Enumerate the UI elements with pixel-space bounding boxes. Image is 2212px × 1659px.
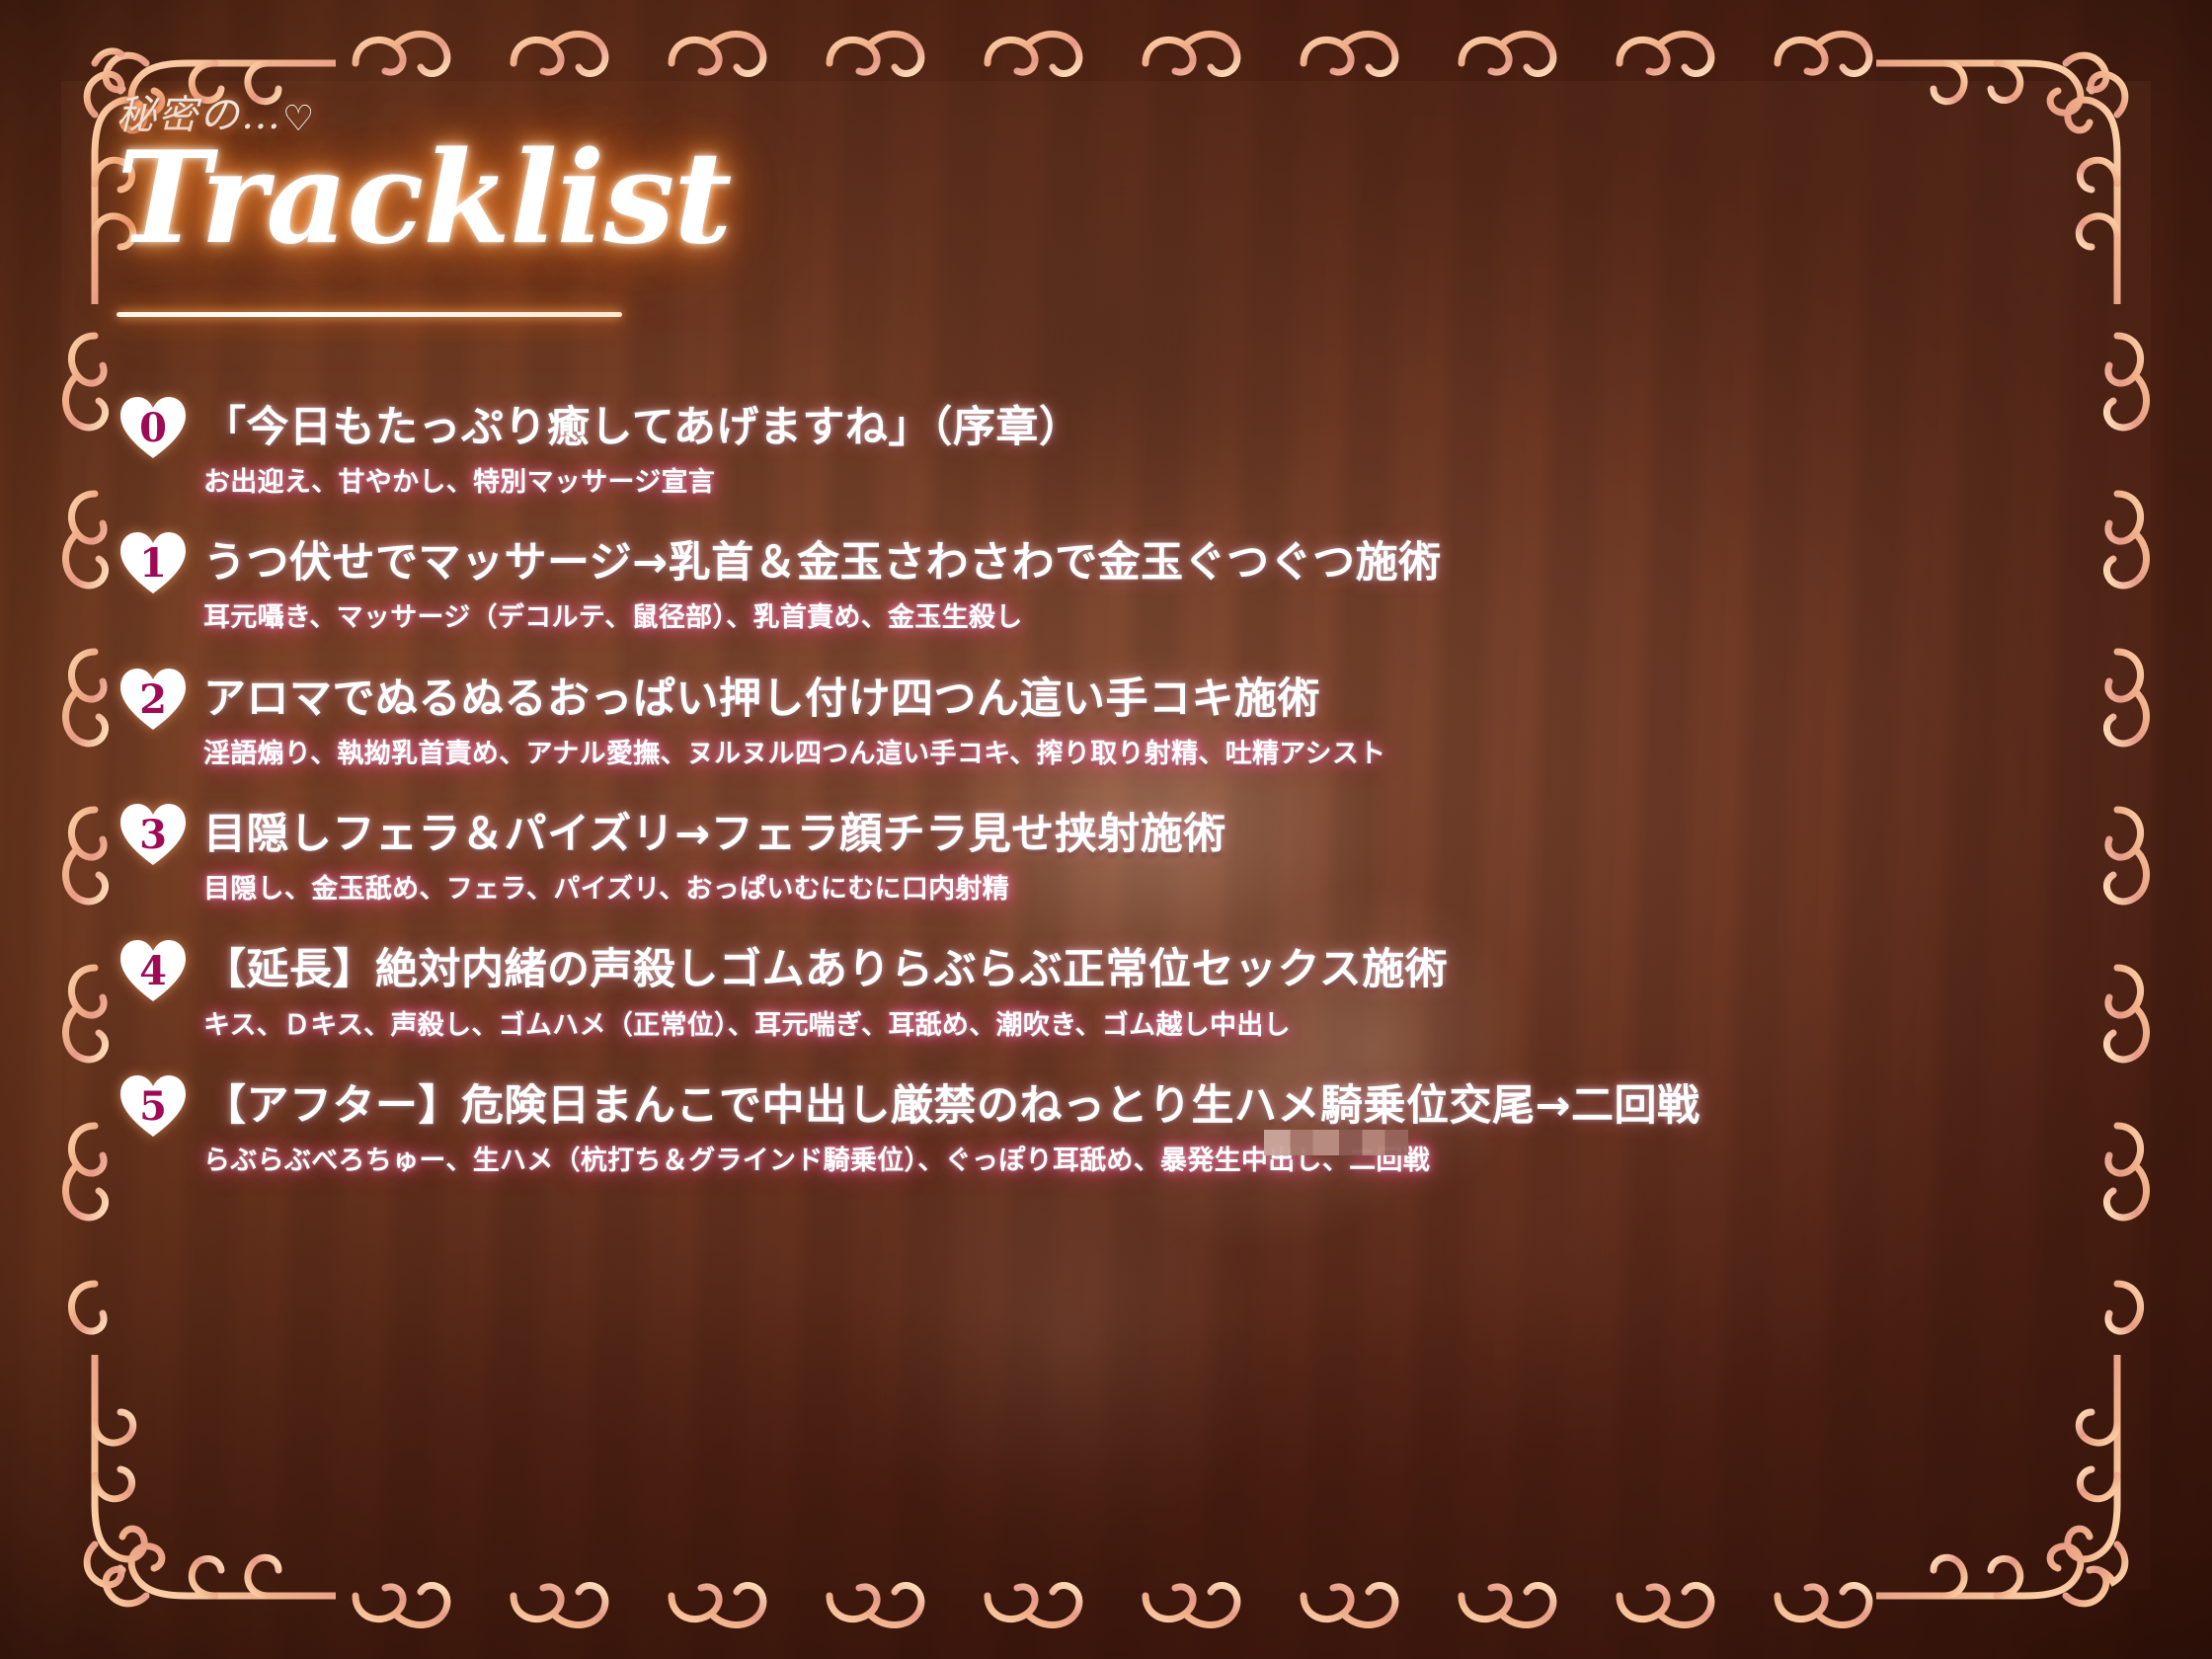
track-header: 3 目隠しフェラ＆パイズリ→フェラ顔チラ見せ挟射施術 — [118, 802, 2133, 867]
track-row[interactable]: 4 【延長】絶対内緒の声殺しゴムありらぶらぶ正常位セックス施術 キス、Ｄキス、声… — [118, 938, 2133, 1042]
heart-badge: 3 — [118, 802, 188, 867]
track-number: 0 — [139, 409, 167, 448]
tracklist: 0 「今日もたっぷり癒してあげますね」（序章） お出迎え、甘やかし、特別マッサー… — [118, 395, 2133, 1209]
heart-badge: 2 — [118, 667, 188, 732]
poster-header: 秘密の…♡ Tracklist — [117, 83, 731, 264]
track-subtitle: 淫語煽り、執拗乳首責め、アナル愛撫、ヌルヌル四つん這い手コキ、搾り取り射精、吐精… — [203, 739, 2133, 770]
track-row[interactable]: 2 アロマでぬるぬるおっぱい押し付け四つん這い手コキ施術 淫語煽り、執拗乳首責め… — [118, 667, 2133, 770]
heart-badge: 5 — [118, 1073, 188, 1139]
track-title: 目隠しフェラ＆パイズリ→フェラ顔チラ見せ挟射施術 — [203, 811, 1226, 858]
track-subtitle: らぶらぶべろちゅー、生ハメ（杭打ち＆グラインド騎乗位）、ぐっぽり耳舐め、暴発生中… — [203, 1145, 2133, 1177]
track-subtitle: 耳元囁き、マッサージ（デコルテ、鼠径部）、乳首責め、金玉生殺し — [203, 602, 2133, 634]
track-number: 4 — [139, 952, 167, 991]
track-row[interactable]: 1 うつ伏せでマッサージ→乳首＆金玉さわさわで金玉ぐつぐつ施術 耳元囁き、マッサ… — [118, 530, 2133, 634]
track-number: 1 — [139, 544, 167, 584]
track-header: 5 【アフター】危険日まんこで中出し厳禁のねっとり生ハメ騎乗位交尾→二回戦 — [118, 1073, 2133, 1139]
track-row[interactable]: 0 「今日もたっぷり癒してあげますね」（序章） お出迎え、甘やかし、特別マッサー… — [118, 395, 2133, 499]
track-title: 【延長】絶対内緒の声殺しゴムありらぶらぶ正常位セックス施術 — [203, 946, 1448, 993]
track-number: 3 — [139, 816, 167, 855]
page-title: Tracklist — [117, 134, 731, 264]
track-header: 4 【延長】絶対内緒の声殺しゴムありらぶらぶ正常位セックス施術 — [118, 938, 2133, 1003]
track-row[interactable]: 3 目隠しフェラ＆パイズリ→フェラ顔チラ見せ挟射施術 目隠し、金玉舐め、フェラ、… — [118, 802, 2133, 906]
track-row[interactable]: 5 【アフター】危険日まんこで中出し厳禁のねっとり生ハメ騎乗位交尾→二回戦 らぶ… — [118, 1073, 2133, 1177]
heart-badge: 1 — [118, 530, 188, 595]
track-subtitle: キス、Ｄキス、声殺し、ゴムハメ（正常位）、耳元喘ぎ、耳舐め、潮吹き、ゴム越し中出… — [203, 1010, 2133, 1042]
heart-outline-icon: ♡ — [282, 99, 316, 139]
track-subtitle: 目隠し、金玉舐め、フェラ、パイズリ、おっぱいむにむに口内射精 — [203, 874, 2133, 906]
track-title: うつ伏せでマッサージ→乳首＆金玉さわさわで金玉ぐつぐつ施術 — [203, 539, 1442, 587]
track-title: 「今日もたっぷり癒してあげますね」（序章） — [203, 404, 1081, 451]
heart-badge: 0 — [118, 395, 188, 460]
track-number: 2 — [139, 680, 167, 720]
heart-badge: 4 — [118, 938, 188, 1003]
tracklist-poster: 秘密の…♡ Tracklist 0 「今日もたっぷり癒してあげますね」（序章） … — [0, 0, 2212, 1659]
track-header: 1 うつ伏せでマッサージ→乳首＆金玉さわさわで金玉ぐつぐつ施術 — [118, 530, 2133, 595]
track-header: 0 「今日もたっぷり癒してあげますね」（序章） — [118, 395, 2133, 460]
track-title: アロマでぬるぬるおっぱい押し付け四つん這い手コキ施術 — [203, 675, 1320, 723]
track-number: 5 — [139, 1087, 167, 1127]
title-underline — [117, 312, 622, 317]
track-subtitle: お出迎え、甘やかし、特別マッサージ宣言 — [203, 467, 2133, 499]
track-title: 【アフター】危険日まんこで中出し厳禁のねっとり生ハメ騎乗位交尾→二回戦 — [203, 1082, 1700, 1130]
track-header: 2 アロマでぬるぬるおっぱい押し付け四つん這い手コキ施術 — [118, 667, 2133, 732]
censor-mosaic — [1264, 1130, 1408, 1155]
